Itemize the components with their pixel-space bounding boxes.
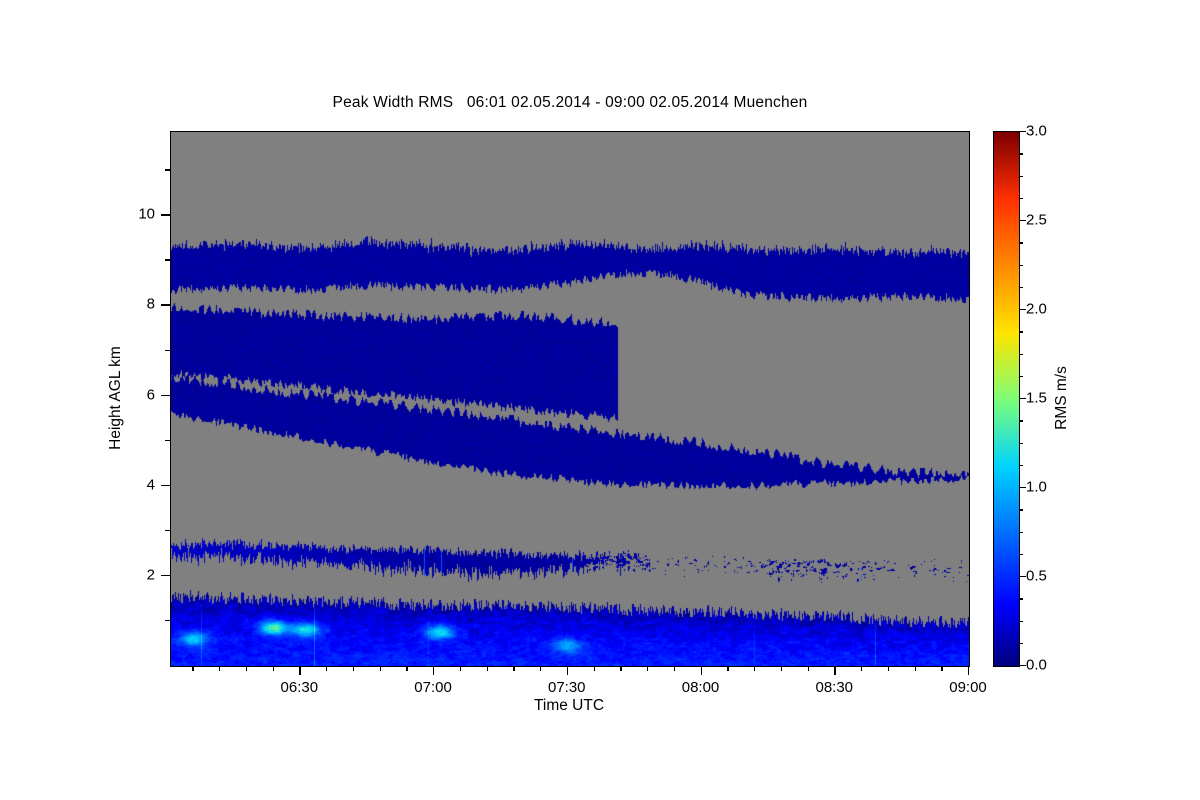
- axis-tick: [567, 666, 568, 675]
- axis-tick: [513, 666, 514, 671]
- axis-tick: [834, 666, 835, 675]
- colorbar-tick: [1019, 509, 1023, 510]
- axis-tick: [161, 575, 170, 576]
- axis-tick: [299, 666, 300, 675]
- colorbar-tick: [1019, 331, 1023, 332]
- colorbar-tick-label: 3.0: [1026, 123, 1047, 140]
- y-tick-label: 10: [0, 206, 155, 223]
- axis-tick: [165, 530, 170, 531]
- colorbar-tick: [1019, 153, 1023, 154]
- y-tick-label: 4: [0, 476, 155, 493]
- plot-area: [170, 131, 970, 667]
- axis-tick: [888, 666, 889, 671]
- axis-tick: [380, 666, 381, 671]
- plot-title: Peak Width RMS 06:01 02.05.2014 - 09:00 …: [0, 94, 1140, 112]
- colorbar-tick: [1019, 443, 1023, 444]
- axis-tick: [941, 666, 942, 671]
- colorbar-tick-label: 1.5: [1026, 390, 1047, 407]
- colorbar-tick: [1019, 265, 1023, 266]
- x-tick-label: 07:30: [548, 679, 586, 696]
- axis-tick: [861, 666, 862, 671]
- axis-tick: [353, 666, 354, 671]
- colorbar-tick-label: 1.0: [1026, 479, 1047, 496]
- colorbar-tick-label: 2.0: [1026, 301, 1047, 318]
- colorbar-tick: [1019, 287, 1023, 288]
- axis-tick: [594, 666, 595, 671]
- axis-tick: [273, 666, 274, 671]
- axis-tick: [754, 666, 755, 671]
- axis-tick: [165, 440, 170, 441]
- x-tick-label: 08:30: [815, 679, 853, 696]
- heatmap-canvas: [171, 132, 969, 666]
- colorbar-gradient: [994, 132, 1019, 666]
- axis-tick: [165, 259, 170, 260]
- axis-tick: [326, 666, 327, 671]
- colorbar-tick: [1019, 554, 1023, 555]
- axis-tick: [161, 304, 170, 305]
- axis-tick: [246, 666, 247, 671]
- axis-tick: [165, 620, 170, 621]
- axis-tick: [647, 666, 648, 671]
- y-axis-label: Height AGL km: [107, 346, 125, 450]
- colorbar-tick: [1019, 643, 1023, 644]
- axis-tick: [406, 666, 407, 671]
- x-tick-label: 07:00: [414, 679, 452, 696]
- axis-tick: [219, 666, 220, 671]
- axis-tick: [540, 666, 541, 671]
- colorbar-tick-label: 2.5: [1026, 212, 1047, 229]
- colorbar-tick: [1019, 376, 1023, 377]
- colorbar-tick: [1019, 621, 1023, 622]
- colorbar-tick: [1019, 532, 1023, 533]
- axis-tick: [808, 666, 809, 671]
- x-tick-label: 09:00: [949, 679, 987, 696]
- colorbar-tick: [1019, 420, 1023, 421]
- colorbar-title: RMS m/s: [1053, 366, 1071, 430]
- axis-tick: [701, 666, 702, 675]
- axis-tick: [165, 350, 170, 351]
- colorbar-tick: [1019, 176, 1023, 177]
- x-tick-label: 08:00: [682, 679, 720, 696]
- axis-tick: [460, 666, 461, 671]
- x-axis-label: Time UTC: [170, 697, 968, 715]
- axis-tick: [727, 666, 728, 671]
- colorbar-tick: [1019, 354, 1023, 355]
- axis-tick: [487, 666, 488, 671]
- colorbar-tick-label: 0.5: [1026, 568, 1047, 585]
- axis-tick: [674, 666, 675, 671]
- axis-tick: [781, 666, 782, 671]
- colorbar-tick-label: 0.0: [1026, 657, 1047, 674]
- axis-tick: [968, 666, 969, 675]
- axis-tick: [165, 169, 170, 170]
- colorbar-tick: [1019, 242, 1023, 243]
- figure-canvas: Peak Width RMS 06:01 02.05.2014 - 09:00 …: [0, 0, 1200, 800]
- axis-tick: [433, 666, 434, 675]
- y-tick-label: 2: [0, 566, 155, 583]
- colorbar-tick: [1019, 465, 1023, 466]
- y-tick-label: 8: [0, 296, 155, 313]
- axis-tick: [161, 214, 170, 215]
- axis-tick: [161, 395, 170, 396]
- x-tick-label: 06:30: [281, 679, 319, 696]
- colorbar-tick: [1019, 198, 1023, 199]
- axis-tick: [192, 666, 193, 671]
- colorbar-tick: [1019, 598, 1023, 599]
- axis-tick: [620, 666, 621, 671]
- y-tick-label: 6: [0, 386, 155, 403]
- axis-tick: [915, 666, 916, 671]
- axis-tick: [161, 485, 170, 486]
- colorbar: [993, 131, 1020, 667]
